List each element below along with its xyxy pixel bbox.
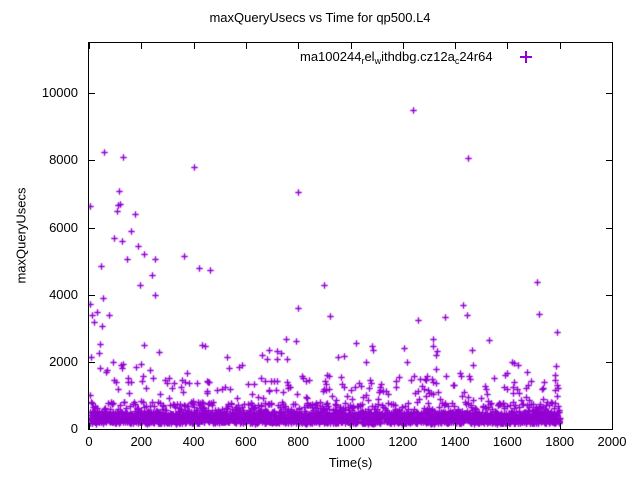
- x-tick-mark: [89, 43, 90, 49]
- y-tick-mark: [606, 295, 612, 296]
- x-tick-mark: [194, 423, 195, 429]
- x-tick-mark: [455, 423, 456, 429]
- y-tick-mark: [89, 362, 95, 363]
- y-tick-mark: [606, 228, 612, 229]
- y-tick-mark: [89, 93, 95, 94]
- x-tick-mark: [560, 423, 561, 429]
- y-tick-mark: [89, 295, 95, 296]
- y-tick-mark: [606, 362, 612, 363]
- x-tick-label: 1800: [530, 435, 590, 449]
- plus-marker-vertical-bar: [525, 51, 527, 63]
- y-tick-mark: [89, 228, 95, 229]
- data-points-layer: [89, 43, 612, 429]
- plot-area: [88, 42, 613, 430]
- x-tick-mark: [246, 423, 247, 429]
- x-tick-label: 200: [111, 435, 171, 449]
- legend-series-label: ma100244relwithdbg.cz12ac24r64: [300, 48, 493, 67]
- x-tick-mark: [246, 43, 247, 49]
- y-tick-label: 0: [0, 422, 78, 436]
- y-tick-mark: [606, 429, 612, 430]
- x-tick-label: 1200: [373, 435, 433, 449]
- y-tick-label: 6000: [0, 221, 78, 235]
- x-axis-label: Time(s): [88, 455, 613, 470]
- scatter-plot-figure: maxQueryUsecs vs Time for qp500.L4 02000…: [0, 0, 640, 480]
- y-tick-mark: [89, 160, 95, 161]
- x-tick-mark: [507, 423, 508, 429]
- y-tick-label: 2000: [0, 355, 78, 369]
- page-title: maxQueryUsecs vs Time for qp500.L4: [0, 10, 640, 26]
- y-tick-mark: [89, 429, 95, 430]
- x-tick-label: 800: [268, 435, 328, 449]
- x-tick-label: 1400: [425, 435, 485, 449]
- x-tick-label: 400: [164, 435, 224, 449]
- x-tick-mark: [612, 43, 613, 49]
- y-axis-label: maxQueryUsecs: [14, 156, 29, 316]
- x-tick-label: 1600: [477, 435, 537, 449]
- x-tick-mark: [298, 43, 299, 49]
- x-tick-label: 2000: [582, 435, 640, 449]
- plus-marker-icon: [519, 50, 533, 64]
- x-tick-label: 0: [59, 435, 119, 449]
- x-tick-mark: [194, 43, 195, 49]
- x-tick-mark: [403, 423, 404, 429]
- x-tick-mark: [612, 423, 613, 429]
- y-tick-label: 4000: [0, 288, 78, 302]
- y-tick-mark: [606, 93, 612, 94]
- x-tick-mark: [89, 423, 90, 429]
- y-tick-label: 8000: [0, 153, 78, 167]
- x-tick-mark: [351, 423, 352, 429]
- x-tick-mark: [141, 423, 142, 429]
- x-tick-mark: [560, 43, 561, 49]
- y-tick-label: 10000: [0, 86, 78, 100]
- x-tick-label: 1000: [321, 435, 381, 449]
- x-tick-mark: [141, 43, 142, 49]
- x-tick-mark: [298, 423, 299, 429]
- x-tick-label: 600: [216, 435, 276, 449]
- legend: ma100244relwithdbg.cz12ac24r64: [300, 48, 533, 66]
- y-tick-mark: [606, 160, 612, 161]
